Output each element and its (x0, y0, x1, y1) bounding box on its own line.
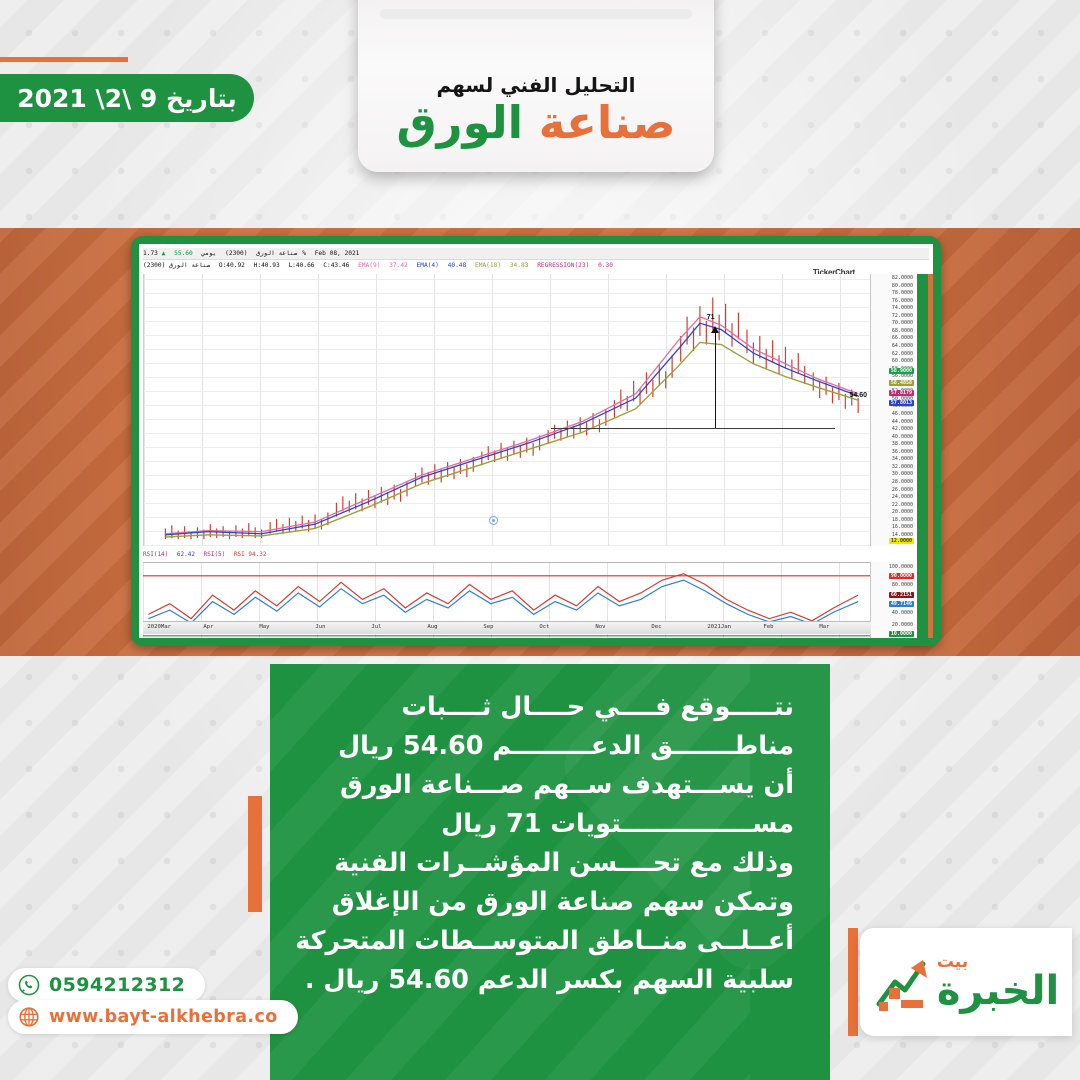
support-price-annotation: 54.60 (849, 392, 867, 399)
chart-symbol-name: صناعة الورق (256, 250, 297, 257)
brand-logo[interactable]: بيت الخبرة (860, 928, 1072, 1036)
date-badge: بتاريخ 9 \2\ 2021 (0, 74, 254, 122)
date-axis[interactable]: 2020MarAprMayJunJulAugSepOctNovDec2021Ja… (143, 621, 871, 634)
price-tick: 22.0000 (892, 502, 913, 508)
whatsapp-icon (18, 974, 40, 996)
date-tick: Nov (595, 624, 605, 630)
price-tick-highlight: 58.9000 (889, 368, 914, 374)
price-series-svg (144, 274, 871, 565)
chart-regression-value: 0.30 (598, 262, 613, 269)
analysis-line: مســـــــــــــــتويات 71 ريال (306, 805, 794, 844)
date-tick: Apr (203, 624, 213, 630)
price-tick: 66.0000 (892, 335, 913, 341)
price-tick: 46.0000 (892, 411, 913, 417)
chart-open: O:40.92 (219, 262, 245, 269)
title-subtitle: التحليل الفني لسهم (437, 73, 636, 97)
rsi-tick: 100.0000 (889, 564, 913, 570)
rsi-axis[interactable]: 100.000080.000040.000020.000090.000060.2… (870, 562, 915, 638)
price-tick: 68.0000 (892, 328, 913, 334)
chart-high: H:40.93 (254, 262, 280, 269)
price-tick: 42.0000 (892, 426, 913, 432)
price-tick: 60.0000 (892, 358, 913, 364)
contact-phone-text: 0594212312 (49, 974, 185, 996)
price-tick: 30.0000 (892, 471, 913, 477)
price-tick: 38.0000 (892, 441, 913, 447)
price-tick: 28.0000 (892, 479, 913, 485)
analysis-line: سلبية السهم بكسر الدعم 54.60 ريال . (306, 961, 794, 1000)
date-tick: Oct (539, 624, 549, 630)
price-tick-highlight: 57.8013 (889, 400, 914, 406)
price-tick: 36.0000 (892, 449, 913, 455)
price-axis[interactable]: 82.000080.000078.000076.000074.000072.00… (870, 274, 915, 546)
rsi-tick-highlight: 60.2151 (889, 592, 914, 598)
price-tick: 64.0000 (892, 343, 913, 349)
date-tick: Mar (819, 624, 829, 630)
chart-low: L:40.66 (288, 262, 314, 269)
analysis-text-panel: نتـــــوقع فــــي حــــال ثــــبات مناطـ… (270, 664, 830, 1080)
price-tick: 20.0000 (892, 509, 913, 515)
rsi5-value: RSI 94.32 (234, 551, 267, 558)
chart-ema4-label: EMA(4) (417, 262, 439, 269)
date-tick: Aug (427, 624, 437, 630)
price-tick: 62.0000 (892, 351, 913, 357)
chart-interval: يومي (201, 250, 216, 257)
chart-series-label: صناعة الورق (2300) (143, 262, 210, 269)
rsi-tick-highlight: 90.0000 (889, 573, 914, 579)
price-tick: 32.0000 (892, 464, 913, 470)
rsi-tick: 20.0000 (892, 622, 913, 628)
chart-frame: صناعة الورق (2300) يومي 55.60 ▲ 1.73% Fe… (131, 236, 941, 646)
analysis-line: نتـــــوقع فــــي حــــال ثــــبات (306, 688, 794, 727)
price-plot-area[interactable]: 71 (143, 274, 871, 546)
price-tick: 26.0000 (892, 487, 913, 493)
rsi-tick-highlight: 10.0000 (889, 631, 914, 637)
analysis-line: أن يســـتهدف ســهم صـــناعة الورق (306, 766, 794, 805)
chart-edge-strip (928, 274, 933, 638)
chart-change-arrow-icon: ▲ (162, 250, 166, 257)
date-tick: Jun (315, 624, 325, 630)
price-tick: 74.0000 (892, 305, 913, 311)
rsi-tick: 80.0000 (892, 582, 913, 588)
price-tick: 72.0000 (892, 313, 913, 319)
support-line (551, 428, 835, 429)
title-word-green: الورق (396, 96, 523, 149)
analysis-line: وذلك مع تحــــسن المؤشــرات الفنية (306, 844, 794, 883)
contact-website-chip[interactable]: www.bayt-alkhebra.co (8, 1000, 298, 1034)
chart-last-price: 55.60 (174, 250, 193, 257)
title-word-orange: صناعة (539, 96, 676, 149)
rsi-tick-highlight: 49.7146 (889, 601, 914, 607)
analysis-text: نتـــــوقع فــــي حــــال ثــــبات مناطـ… (270, 664, 830, 1000)
chart-regression-label: REGRESSION(23) (537, 262, 589, 269)
chart-quote-header: صناعة الورق (2300) يومي 55.60 ▲ 1.73% Fe… (143, 248, 929, 260)
price-tick: 76.0000 (892, 298, 913, 304)
rsi14-label: RSI(14) (143, 551, 168, 558)
chart-ohlc-header: صناعة الورق (2300) O:40.92 H:40.93 L:40.… (143, 260, 929, 271)
date-accent-rule (0, 57, 128, 62)
analysis-line: مناطـــــــق الدعـــــــــم 54.60 ريال (306, 727, 794, 766)
price-tick: 14.0000 (892, 532, 913, 538)
globe-icon (18, 1006, 40, 1028)
title-card: التحليل الفني لسهم صناعة الورق (358, 0, 714, 172)
page-title: صناعة الورق (396, 99, 675, 146)
date-tick: 2021Jan (707, 624, 731, 630)
price-tick: 44.0000 (892, 419, 913, 425)
analysis-line: أعــلــى منــاطق المتوســطات المتحركة (306, 922, 794, 961)
price-tick-highlight: 57.8179 (889, 390, 914, 396)
chart-ema18-value: 34.83 (510, 262, 529, 269)
text-accent-bar (248, 796, 262, 912)
rsi-header: RSI(14) 62.42 RSI(5) RSI 94.32 (143, 550, 271, 560)
chart-symbol-code: (2300) (225, 250, 247, 257)
contact-phone-chip[interactable]: 0594212312 (8, 968, 205, 1002)
date-tick: Jul (371, 624, 381, 630)
analysis-line: وتمكن سهم صناعة الورق من الإغلاق (306, 883, 794, 922)
rsi5-label: RSI(5) (204, 551, 226, 558)
price-tick: 80.0000 (892, 283, 913, 289)
chart-quote-date: Feb 08, 2021 (315, 250, 360, 257)
price-tick: 78.0000 (892, 290, 913, 296)
rsi-tick: 40.0000 (892, 610, 913, 616)
price-tick: 34.0000 (892, 456, 913, 462)
price-tick: 16.0000 (892, 524, 913, 530)
date-tick: 2020Mar (147, 624, 171, 630)
logo-accent-bar (848, 928, 858, 1036)
price-tick: 70.0000 (892, 320, 913, 326)
price-tick-highlight: 58.4858 (889, 380, 914, 386)
contact-website-text: www.bayt-alkhebra.co (49, 1007, 278, 1027)
target-price-annotation: 71 (707, 314, 715, 321)
date-tick: May (259, 624, 269, 630)
price-tick: 24.0000 (892, 494, 913, 500)
date-tick: Sep (483, 624, 493, 630)
chart-ema18-label: EMA(18) (475, 262, 501, 269)
rsi14-value: 62.42 (177, 551, 195, 558)
chart-ema9-label: EMA(9) (358, 262, 380, 269)
logo-maintext: الخبرة (937, 971, 1059, 1011)
chart-close: C:43.46 (323, 262, 349, 269)
chart-ema4-value: 40.48 (448, 262, 467, 269)
price-tick: 56.0000 (892, 373, 913, 379)
date-tick: Feb (763, 624, 773, 630)
price-tick-bottom-highlight: 12.0000 (889, 538, 914, 544)
chart-canvas[interactable]: صناعة الورق (2300) يومي 55.60 ▲ 1.73% Fe… (139, 244, 933, 638)
growth-arrow-icon (873, 950, 931, 1014)
chart-ema9-value: 37.42 (389, 262, 408, 269)
date-tick: Dec (651, 624, 661, 630)
target-arrow-icon (715, 332, 716, 428)
price-tick: 18.0000 (892, 517, 913, 523)
price-tick: 82.0000 (892, 275, 913, 281)
price-tick: 40.0000 (892, 434, 913, 440)
